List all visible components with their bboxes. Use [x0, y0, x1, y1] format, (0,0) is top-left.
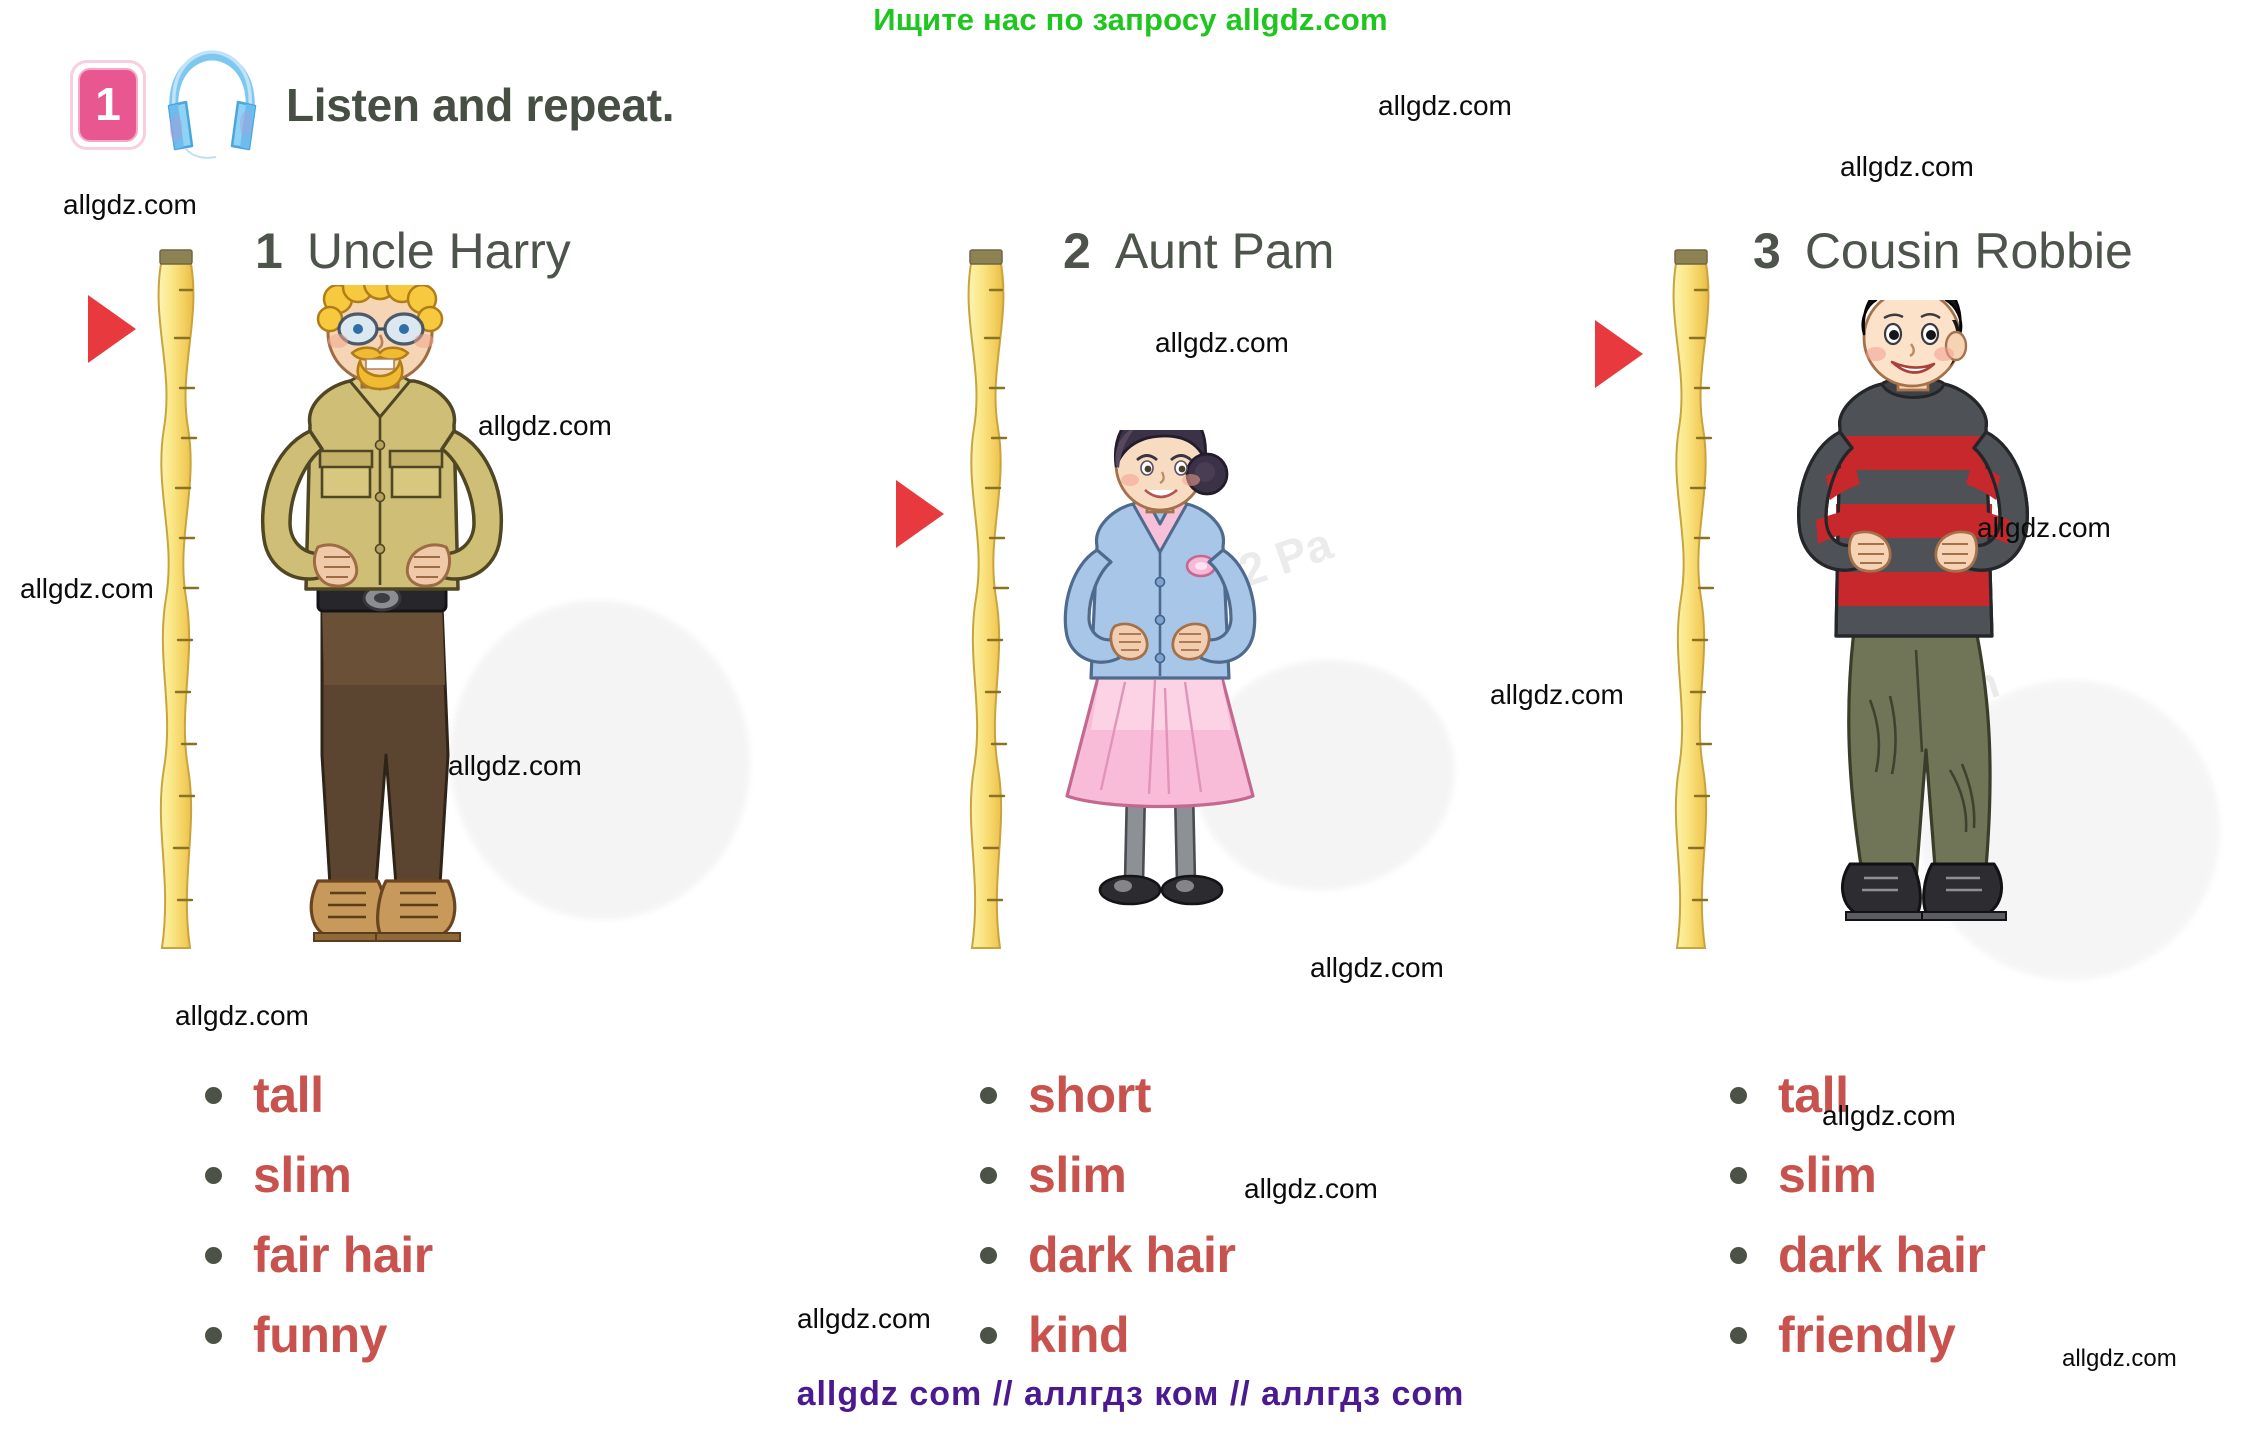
bullet-icon — [205, 1087, 222, 1104]
watermark: allgdz.com — [1155, 327, 1289, 359]
height-marker-1 — [88, 295, 136, 363]
column-heading-1: 1Uncle Harry — [255, 222, 571, 280]
exercise-number-badge-inner: 1 — [78, 68, 138, 142]
word-label: funny — [253, 1306, 387, 1364]
bullet-icon — [980, 1247, 997, 1264]
list-item: slim — [1730, 1135, 1986, 1215]
column-heading-3: 3Cousin Robbie — [1753, 222, 2133, 280]
watermark: allgdz.com — [1378, 90, 1512, 122]
list-item: dark hair — [1730, 1215, 1986, 1295]
watermark: allgdz.com — [478, 410, 612, 442]
word-label: slim — [1778, 1146, 1876, 1204]
uncle-harry-illustration — [210, 285, 550, 990]
exercise-number-badge: 1 — [70, 60, 146, 150]
list-item: dark hair — [980, 1215, 1236, 1295]
word-label: fair hair — [253, 1226, 433, 1284]
watermark: allgdz.com — [1310, 952, 1444, 984]
measuring-tape-2 — [950, 248, 1020, 953]
watermark: allgdz.com — [1840, 151, 1974, 183]
word-label: slim — [1028, 1146, 1126, 1204]
list-item: fair hair — [205, 1215, 433, 1295]
watermark: allgdz.com — [1244, 1173, 1378, 1205]
word-list-2: short slim dark hair kind — [980, 1055, 1236, 1375]
watermark: allgdz.com — [1822, 1100, 1956, 1132]
exercise-number: 1 — [95, 81, 121, 130]
height-marker-3 — [1595, 320, 1643, 388]
column-name-2: Aunt Pam — [1115, 223, 1335, 279]
cousin-robbie-illustration — [1750, 300, 2080, 985]
watermark: allgdz.com — [2062, 1345, 2177, 1373]
exercise-title: Listen and repeat. — [286, 78, 674, 132]
word-label: kind — [1028, 1306, 1129, 1364]
bullet-icon — [980, 1087, 997, 1104]
watermark: allgdz.com — [63, 189, 197, 221]
bullet-icon — [1730, 1167, 1747, 1184]
bullet-icon — [1730, 1247, 1747, 1264]
word-label: dark hair — [1778, 1226, 1986, 1284]
exercise-header: 1 Listen and repeat. — [70, 50, 674, 160]
word-label: short — [1028, 1066, 1151, 1124]
bullet-icon — [205, 1167, 222, 1184]
list-item: slim — [980, 1135, 1236, 1215]
watermark: allgdz.com — [1490, 679, 1624, 711]
list-item: tall — [205, 1055, 433, 1135]
watermark: allgdz.com — [175, 1000, 309, 1032]
watermark: allgdz.com — [1977, 512, 2111, 544]
list-item: slim — [205, 1135, 433, 1215]
watermark: allgdz.com — [448, 750, 582, 782]
watermark: allgdz.com — [20, 573, 154, 605]
word-label: dark hair — [1028, 1226, 1236, 1284]
aunt-pam-illustration — [1015, 430, 1305, 955]
bullet-icon — [1730, 1087, 1747, 1104]
word-label: friendly — [1778, 1306, 1955, 1364]
column-name-3: Cousin Robbie — [1805, 223, 2133, 279]
bullet-icon — [980, 1327, 997, 1344]
column-name-1: Uncle Harry — [307, 223, 571, 279]
list-item: kind — [980, 1295, 1236, 1375]
bullet-icon — [1730, 1327, 1747, 1344]
column-heading-2: 2Aunt Pam — [1063, 222, 1334, 280]
word-label: slim — [253, 1146, 351, 1204]
word-list-1: tall slim fair hair funny — [205, 1055, 433, 1375]
list-item: funny — [205, 1295, 433, 1375]
bullet-icon — [980, 1167, 997, 1184]
watermark: allgdz.com — [797, 1303, 931, 1335]
bullet-icon — [205, 1327, 222, 1344]
column-index-2: 2 — [1063, 223, 1091, 279]
headphones-icon — [166, 50, 258, 160]
measuring-tape-3 — [1655, 248, 1725, 953]
bullet-icon — [205, 1247, 222, 1264]
list-item: friendly — [1730, 1295, 1986, 1375]
site-promo-banner: Ищите нас по запросу allgdz.com — [0, 2, 2261, 38]
height-marker-2 — [896, 480, 944, 548]
word-label: tall — [253, 1066, 324, 1124]
column-index-3: 3 — [1753, 223, 1781, 279]
column-index-1: 1 — [255, 223, 283, 279]
bottom-watermark: allgdz com // аллгдз ком // аллгдз com — [0, 1375, 2261, 1414]
list-item: short — [980, 1055, 1236, 1135]
